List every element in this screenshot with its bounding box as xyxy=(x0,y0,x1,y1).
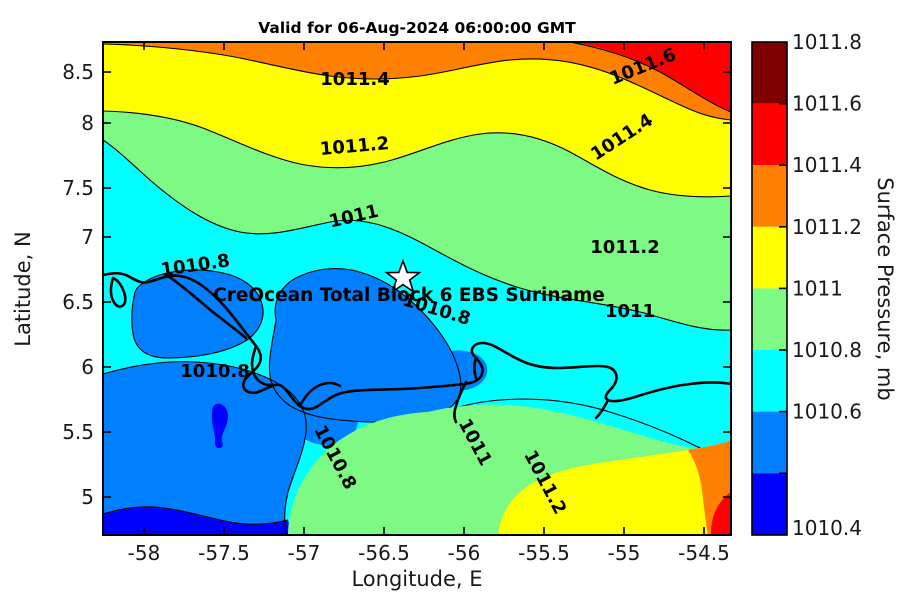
y-tick-label: 5.5 xyxy=(62,420,94,444)
colorbar-swatch-1010_4 xyxy=(752,412,787,474)
contour-label: 1011 xyxy=(605,301,655,322)
colorbar-tick-label: 1010.6 xyxy=(792,400,862,424)
contour-label: 1010.8 xyxy=(180,361,249,382)
contour-figure: Valid for 06-Aug-2024 06:00:00 GMT xyxy=(0,0,900,600)
contour-label: 1011.2 xyxy=(590,237,659,258)
x-tick-label: -57 xyxy=(288,541,321,565)
y-tick-label: 8.5 xyxy=(62,60,94,84)
colorbar-tick-label: 1011.4 xyxy=(792,153,862,177)
site-label: CreOcean Total Block 6 EBS Suriname xyxy=(213,285,605,306)
figure-canvas: Valid for 06-Aug-2024 06:00:00 GMT xyxy=(0,0,900,600)
colorbar-swatch-1011 xyxy=(752,227,787,289)
y-tick-label: 7.5 xyxy=(62,176,94,200)
colorbar-swatch-1010_6 xyxy=(752,350,787,412)
x-tick-label: -57.5 xyxy=(198,541,250,565)
colorbar-tick-label: 1011.8 xyxy=(792,30,862,54)
y-tick-label: 5 xyxy=(81,485,94,509)
x-tick-label: -56 xyxy=(448,541,481,565)
colorbar-tick-label: 1011.6 xyxy=(792,92,862,116)
band-1011-south-green xyxy=(103,362,306,535)
y-tick-label: 7 xyxy=(81,225,94,249)
y-tick-label: 6.5 xyxy=(62,290,94,314)
colorbar-swatch-1011_2 xyxy=(752,165,787,227)
page-title: Valid for 06-Aug-2024 06:00:00 GMT xyxy=(258,19,576,37)
y-axis-title: Latitude, N xyxy=(11,231,35,347)
x-tick-label: -55.5 xyxy=(518,541,570,565)
colorbar-swatch-1011_6 xyxy=(752,42,787,104)
colorbar-tick-label: 1011.2 xyxy=(792,215,862,239)
colorbar-swatch-base xyxy=(752,473,787,535)
x-axis-title: Longitude, E xyxy=(351,567,482,591)
y-tick-label: 8 xyxy=(81,111,94,135)
colorbar-swatch-1010_8 xyxy=(752,288,787,350)
colorbar-title: Surface Pressure, mb xyxy=(873,177,897,400)
x-tick-label: -54.5 xyxy=(678,541,730,565)
x-tick-label: -58 xyxy=(128,541,161,565)
colorbar-tick-label: 1011 xyxy=(792,276,843,300)
colorbar-swatch-1011_4 xyxy=(752,104,787,166)
contour-label: 1011.4 xyxy=(320,69,389,90)
x-tick-label: -56.5 xyxy=(358,541,410,565)
colorbar-tick-label: 1010.4 xyxy=(792,516,862,540)
y-tick-label: 6 xyxy=(81,355,94,379)
x-tick-label: -55 xyxy=(608,541,641,565)
colorbar-tick-label: 1010.8 xyxy=(792,338,862,362)
